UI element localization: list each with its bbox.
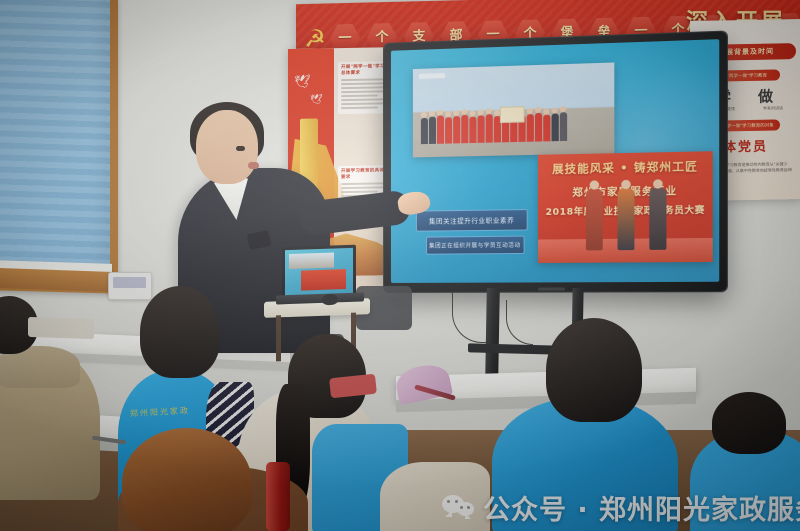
group-photo-person [469,117,476,143]
wall-mounted-device [108,272,152,300]
presentation-display[interactable]: 展技能风采 • 铸郑州工匠 郑州市家庭服务行业 2018年度职业技能家政服务员大… [384,32,727,292]
dove-icon: 🕊 [294,75,311,90]
presenter-eye [236,146,245,151]
window-sill [0,268,120,292]
group-photo-person [527,114,534,142]
group-photo-person [560,113,567,142]
group-photo-person [429,117,436,144]
tv-screen[interactable]: 展技能风采 • 铸郑州工匠 郑州市家庭服务行业 2018年度职业技能家政服务员大… [391,39,719,283]
tv-brand-logo [538,287,565,290]
group-photo-person [421,118,428,144]
paper-sheet[interactable] [28,317,94,339]
award-plaque [500,106,525,123]
vest-text [500,448,620,468]
poster-right-caption-2: 学系列讲话 [756,105,790,111]
laptop[interactable] [282,245,356,300]
dove-icon: 🕊 [310,94,323,105]
photograph-scene: ☭ 一个支部一个堡垒一个党员一面 深入开展 🕊 🕊 开展"两学一做"学习教育的总… [0,0,800,531]
group-photo-person [543,115,550,142]
slide-bullet-1: 集团关注提升行业职业素养 [416,209,527,231]
slide-photo-stage: 展技能风采 • 铸郑州工匠 郑州市家庭服务行业 2018年度职业技能家政服务员大… [538,151,712,264]
audience-member-head [546,318,642,422]
window-blind[interactable] [0,0,110,270]
wechat-icon [442,494,474,521]
watermark: 公众号 · 郑州阳光家政服务公司 [442,488,800,527]
thermos-flask[interactable] [266,462,290,531]
group-photo-person [551,114,558,142]
presenter-mouth [248,162,259,169]
audience-member-head [712,392,786,454]
group-photo-person [437,116,444,144]
laptop-screen-content [285,248,353,296]
group-photo-person [445,118,452,144]
audience-member-head [140,286,220,378]
presenter-head [196,110,258,184]
group-photo-person [486,115,493,144]
tv-stand-column [485,288,500,380]
group-photo-person [477,116,484,144]
watermark-text: 公众号 · 郑州阳光家政服务公司 [483,488,800,527]
group-photo-person [453,116,460,143]
group-photo-person [461,115,468,143]
group-photo-person [535,113,542,142]
slide-bullet-2: 集团正在组织开展与学员互动活动 [426,235,524,254]
poster-right-word-2: 做 [758,85,775,106]
slide-photo-group [413,62,614,157]
audience-member-head [122,428,252,531]
stage-banner-line-1: 展技能风采 • 铸郑州工匠 [545,158,705,178]
